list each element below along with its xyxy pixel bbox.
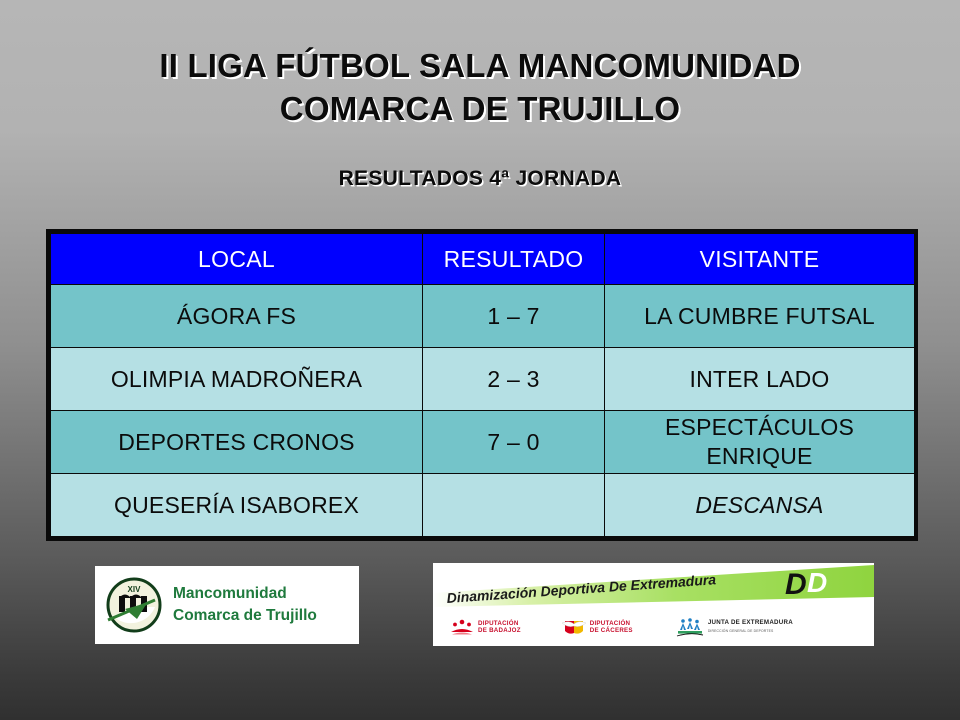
diputacion-caceres-icon — [561, 619, 587, 636]
cell-visitante-line-1: ESPECTÁCULOS — [665, 414, 854, 440]
sponsor-caceres-label: DIPUTACIÓN DE CÁCERES — [590, 620, 633, 635]
cell-local: QUESERÍA ISABOREX — [51, 474, 423, 537]
sponsor-junta-label: JUNTA DE EXTREMADURA DIRECCIÓN GENERAL D… — [708, 619, 793, 635]
cell-local: DEPORTES CRONOS — [51, 411, 423, 474]
cell-resultado — [423, 474, 605, 537]
page-subtitle: RESULTADOS 4ª JORNADA — [0, 167, 960, 191]
cell-visitante-line-2: ENRIQUE — [706, 443, 812, 469]
mancomunidad-label: Mancomunidad Comarca de Trujillo — [173, 583, 317, 627]
dinamizacion-banner: Dinamización Deportiva De Extremadura D … — [433, 563, 874, 608]
dd-monogram-icon: D D — [785, 567, 827, 601]
results-table: LOCAL RESULTADO VISITANTE ÁGORA FS 1 – 7… — [50, 233, 915, 537]
sponsor-diputacion-caceres: DIPUTACIÓN DE CÁCERES — [561, 619, 633, 636]
table-body: ÁGORA FS 1 – 7 LA CUMBRE FUTSAL OLIMPIA … — [51, 285, 915, 537]
page-title: II LIGA FÚTBOL SALA MANCOMUNIDAD COMARCA… — [0, 44, 960, 130]
sponsor-junta-line-1: JUNTA DE EXTREMADURA — [708, 619, 793, 626]
mancomunidad-label-line-1: Mancomunidad — [173, 585, 287, 602]
logo-dinamizacion-deportiva: Dinamización Deportiva De Extremadura D … — [433, 563, 874, 646]
table-header-row: LOCAL RESULTADO VISITANTE — [51, 234, 915, 285]
column-header-local: LOCAL — [51, 234, 423, 285]
sponsor-badajoz-line-1: DIPUTACIÓN — [478, 620, 519, 627]
sponsor-diputacion-badajoz: DIPUTACIÓN DE BADAJOZ — [449, 619, 521, 635]
sponsor-caceres-line-2: DE CÁCERES — [590, 627, 633, 634]
cell-visitante: LA CUMBRE FUTSAL — [605, 285, 915, 348]
sponsor-logos-row: DIPUTACIÓN DE BADAJOZ DIPUTACIÓN DE CÁCE… — [433, 610, 874, 644]
sponsor-junta-extremadura: JUNTA DE EXTREMADURA DIRECCIÓN GENERAL D… — [675, 617, 793, 637]
cell-local: OLIMPIA MADROÑERA — [51, 348, 423, 411]
logo-mancomunidad: XIV Mancomunidad Comarca de Trujillo — [95, 566, 359, 644]
cell-visitante: ESPECTÁCULOS ENRIQUE — [605, 411, 915, 474]
mancomunidad-label-line-2: Comarca de Trujillo — [173, 607, 317, 624]
cell-resultado: 1 – 7 — [423, 285, 605, 348]
sponsor-badajoz-line-2: DE BADAJOZ — [478, 627, 521, 634]
sponsor-caceres-line-1: DIPUTACIÓN — [590, 620, 631, 627]
cell-visitante: DESCANSA — [605, 474, 915, 537]
sponsor-junta-subtitle: DIRECCIÓN GENERAL DE DEPORTES — [708, 628, 793, 635]
cell-local: ÁGORA FS — [51, 285, 423, 348]
page-title-line-2: COMARCA DE TRUJILLO — [0, 87, 960, 130]
cell-resultado: 2 – 3 — [423, 348, 605, 411]
diputacion-badajoz-icon — [449, 619, 475, 635]
svg-text:D: D — [807, 567, 827, 598]
table-row: ÁGORA FS 1 – 7 LA CUMBRE FUTSAL — [51, 285, 915, 348]
table-header: LOCAL RESULTADO VISITANTE — [51, 234, 915, 285]
table-row: DEPORTES CRONOS 7 – 0 ESPECTÁCULOS ENRIQ… — [51, 411, 915, 474]
page-title-line-1: II LIGA FÚTBOL SALA MANCOMUNIDAD — [0, 44, 960, 87]
svg-text:D: D — [785, 568, 807, 601]
cell-resultado: 7 – 0 — [423, 411, 605, 474]
mancomunidad-emblem-icon: XIV — [105, 576, 163, 634]
sponsor-badajoz-label: DIPUTACIÓN DE BADAJOZ — [478, 620, 521, 635]
table-row: QUESERÍA ISABOREX DESCANSA — [51, 474, 915, 537]
junta-extremadura-icon — [675, 617, 705, 637]
results-table-container: LOCAL RESULTADO VISITANTE ÁGORA FS 1 – 7… — [46, 229, 918, 541]
table-row: OLIMPIA MADROÑERA 2 – 3 INTER LADO — [51, 348, 915, 411]
column-header-resultado: RESULTADO — [423, 234, 605, 285]
column-header-visitante: VISITANTE — [605, 234, 915, 285]
cell-visitante: INTER LADO — [605, 348, 915, 411]
mancomunidad-emblem-roman-numeral: XIV — [128, 585, 142, 594]
